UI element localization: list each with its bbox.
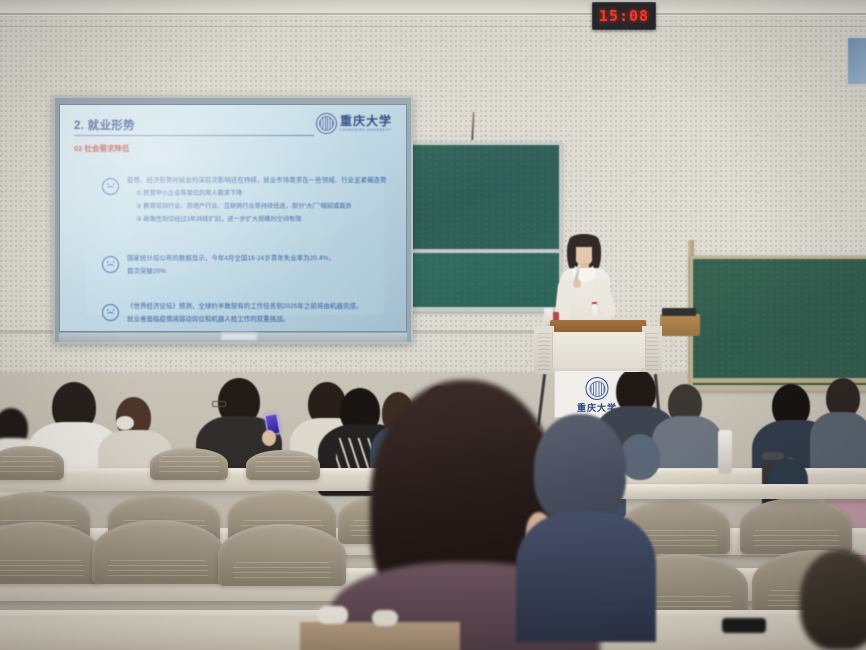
student-hand bbox=[262, 430, 276, 446]
hair-scrunchie bbox=[116, 416, 134, 430]
chongqing-university-seal-icon bbox=[316, 113, 337, 134]
sad-face-icon bbox=[102, 304, 119, 321]
university-logo: 重庆大学 CHONGQING UNIVERSITY bbox=[316, 113, 392, 134]
seat-back bbox=[246, 450, 320, 480]
podium-grill-texture bbox=[646, 330, 658, 370]
podium-front-panel bbox=[552, 332, 646, 368]
block-lead-line-2: 首次突破20% bbox=[127, 268, 374, 276]
block-lead-line: 《世界经济论坛》预测，全球约半数现有的工作任务到2025年之前将由机器完成， bbox=[127, 303, 374, 311]
block-lead-line: 国家统计局公布的数据显示，今年4月全国16-24岁青年失业率为20.4%， bbox=[127, 255, 374, 263]
shoe bbox=[318, 606, 348, 624]
slide-block: 疫情、经济形势对就业的深层次影响还在持续，就业市场需求在一些领域、行业呈紧缩态势… bbox=[102, 177, 374, 224]
seat-ribs bbox=[753, 530, 838, 548]
university-name-en: CHONGQING UNIVERSITY bbox=[340, 129, 392, 132]
slide-block-lines: 疫情、经济形势对就业的深层次影响还在持续，就业市场需求在一些领域、行业呈紧缩态势… bbox=[127, 177, 387, 224]
seat-ribs bbox=[233, 562, 330, 580]
seat-back bbox=[92, 520, 224, 584]
sad-face-icon bbox=[102, 256, 119, 273]
blackboard-side bbox=[690, 256, 866, 391]
slide-header: 2. 就业形势 重庆大学 CHONGQING UNIVERSITY bbox=[72, 115, 394, 141]
title-underline bbox=[74, 135, 314, 136]
seat-ribs bbox=[0, 560, 84, 578]
seat-back bbox=[740, 498, 852, 554]
podium-grill-texture bbox=[538, 330, 550, 370]
chalk-dust-texture bbox=[693, 259, 866, 385]
ceiling-line-secondary bbox=[0, 26, 866, 27]
seal-inner-ring bbox=[319, 116, 334, 131]
slide-block: 国家统计局公布的数据显示，今年4月全国16-24岁青年失业率为20.4%， 首次… bbox=[102, 255, 374, 276]
glasses-on-desk[interactable] bbox=[722, 618, 766, 633]
presenter-hair-right bbox=[592, 240, 601, 270]
equipment-on-table bbox=[662, 308, 696, 316]
slide-subtitle: 02 社会需求降低 bbox=[74, 143, 394, 154]
screen-notice-label bbox=[220, 332, 258, 341]
student-head bbox=[620, 434, 660, 480]
foreground-student-head-right bbox=[800, 550, 866, 650]
foreground-student-head bbox=[534, 414, 626, 526]
slide-list-item: ① 民营中小企业等单位的用人需求下降 bbox=[127, 190, 387, 198]
window-panel bbox=[846, 36, 866, 86]
block-lead-line-2: 就业者面临疫情减弱动岗位和机器人抢工作的双重挑战。 bbox=[127, 316, 374, 324]
eyeglasses-icon bbox=[212, 401, 226, 407]
seat-ribs bbox=[159, 456, 218, 474]
sad-face-icon bbox=[102, 178, 119, 195]
seat-back bbox=[218, 524, 346, 586]
seat-back bbox=[150, 448, 228, 480]
presenter-hair-left bbox=[567, 240, 576, 270]
sad-mouth bbox=[107, 312, 114, 317]
slide-block-lines: 国家统计局公布的数据显示，今年4月全国16-24岁青年失业率为20.4%， 首次… bbox=[127, 255, 374, 276]
slide-block-lines: 《世界经济论坛》预测，全球约半数现有的工作任务到2025年之前将由机器完成， 就… bbox=[127, 303, 374, 324]
audience-area bbox=[0, 372, 866, 650]
slide-list-item: ② 教育培训行业、房地产行业、互联网行业等持续低迷，部分“大厂”缩招或裁员 bbox=[127, 203, 387, 211]
sad-mouth bbox=[107, 264, 114, 269]
slide-block: 《世界经济论坛》预测，全球约半数现有的工作任务到2025年之前将由机器完成， 就… bbox=[102, 303, 374, 324]
slide-title: 2. 就业形势 bbox=[74, 117, 135, 133]
seat-ribs bbox=[255, 456, 311, 474]
clock-time: 15:08 bbox=[599, 7, 649, 25]
foreground-student-torso bbox=[516, 512, 656, 642]
university-name: 重庆大学 CHONGQING UNIVERSITY bbox=[340, 115, 392, 132]
presentation-slide: 2. 就业形势 重庆大学 CHONGQING UNIVERSITY 02 社会需… bbox=[60, 105, 406, 331]
podium-side-left bbox=[534, 326, 554, 374]
sad-mouth bbox=[107, 186, 114, 191]
block-lead-line: 疫情、经济形势对就业的深层次影响还在持续，就业市场需求在一些领域、行业呈紧缩态势 bbox=[127, 177, 387, 185]
lead-text: 疫情、经济形势对就业的深层次影响还在持续，就业市场需求在一些领域、行业呈紧缩态势 bbox=[127, 177, 387, 184]
projection-screen: 2. 就业形势 重庆大学 CHONGQING UNIVERSITY 02 社会需… bbox=[53, 96, 413, 344]
student-torso bbox=[652, 416, 722, 476]
side-table bbox=[660, 314, 700, 336]
seat-ribs bbox=[0, 456, 55, 474]
floor-aisle bbox=[300, 622, 460, 650]
student-torso bbox=[810, 412, 866, 476]
thermos-bottle bbox=[718, 430, 732, 474]
ceiling-line bbox=[0, 13, 866, 15]
presenter-hand bbox=[573, 279, 581, 288]
slide-content-panel: 疫情、经济形势对就业的深层次影响还在持续，就业市场需求在一些领域、行业呈紧缩态势… bbox=[86, 163, 384, 315]
seat-ribs bbox=[108, 560, 208, 578]
university-name-cn: 重庆大学 bbox=[340, 115, 392, 127]
lecture-hall-photo: 15:08 2. 就业形势 bbox=[0, 0, 866, 650]
slide-list-item: ③ 政策性岗位经过3年持续扩招，进一步扩大规模的空间有限 bbox=[127, 216, 387, 224]
shoe bbox=[372, 610, 398, 626]
digital-clock: 15:08 bbox=[592, 2, 656, 30]
slide-surface: 2. 就业形势 重庆大学 CHONGQING UNIVERSITY 02 社会需… bbox=[59, 104, 407, 332]
seat-back bbox=[0, 446, 64, 480]
water-bottle-podium bbox=[592, 304, 597, 320]
